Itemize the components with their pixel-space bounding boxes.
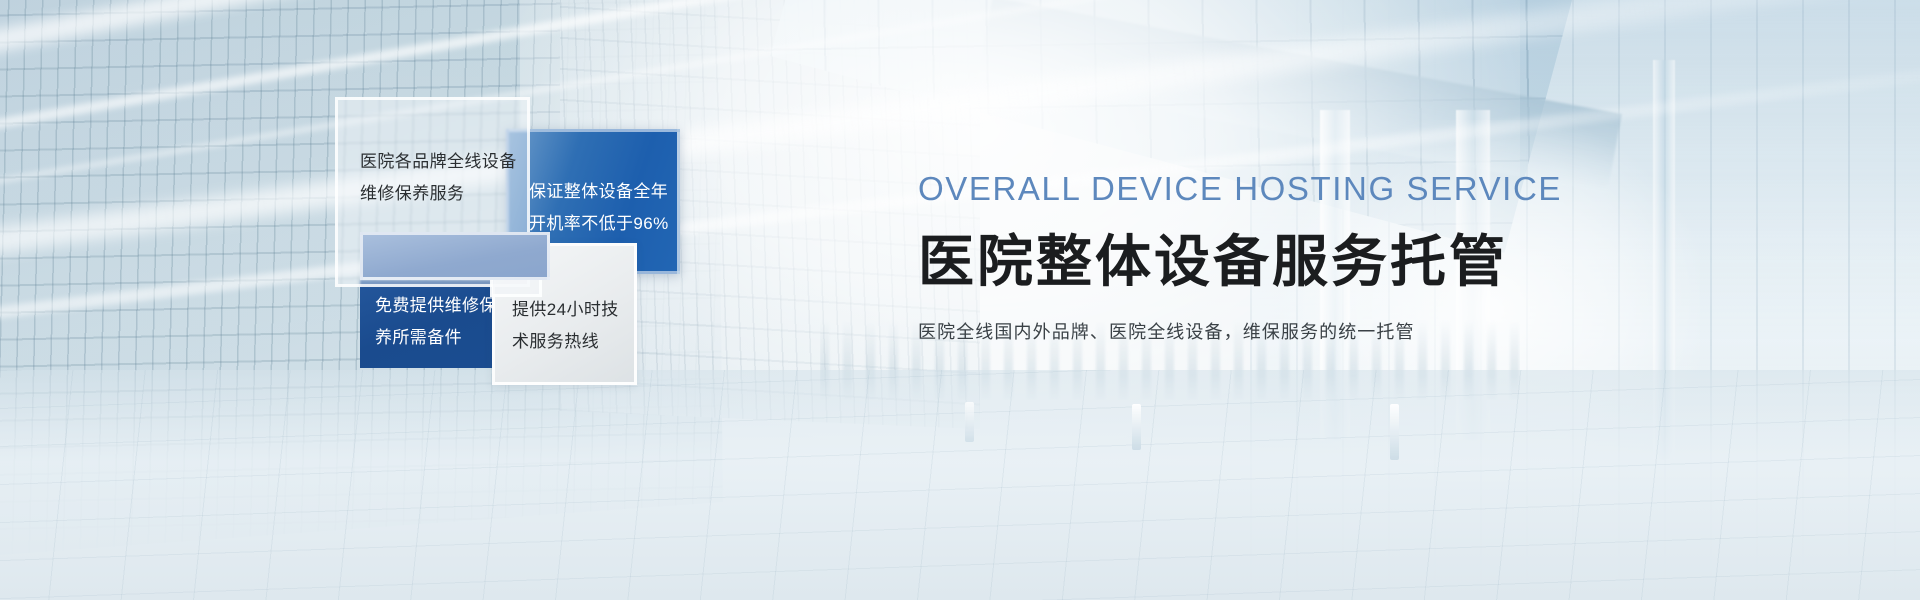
headline-subtitle: 医院全线国内外品牌、医院全线设备，维保服务的统一托管: [918, 318, 1638, 344]
feature-card-uptime-text: 保证整体设备全年 开机率不低于96%: [529, 176, 677, 240]
feature-card-collage: 医院各品牌全线设备 维修保养服务 保证整体设备全年 开机率不低于96% 免费提供…: [0, 0, 760, 600]
column-icon: [1653, 60, 1675, 460]
feature-card-hotline-text: 提供24小时技 术服务热线: [512, 294, 624, 358]
bollard-icon: [1390, 404, 1399, 460]
page-title: 医院整体设备服务托管: [918, 217, 1638, 298]
bollard-icon: [1132, 404, 1141, 450]
roof-soffit-icon: [978, 0, 1622, 193]
feature-card-brand-service-text: 医院各品牌全线设备 维修保养服务: [360, 146, 530, 210]
hero-banner: 医院各品牌全线设备 维修保养服务 保证整体设备全年 开机率不低于96% 免费提供…: [0, 0, 1920, 600]
feature-card-accent-block: [360, 232, 550, 280]
headline-block: OVERALL DEVICE HOSTING SERVICE 医院整体设备服务托…: [918, 170, 1638, 344]
bollard-icon: [965, 402, 974, 442]
headline-eyebrow: OVERALL DEVICE HOSTING SERVICE: [918, 170, 1638, 208]
